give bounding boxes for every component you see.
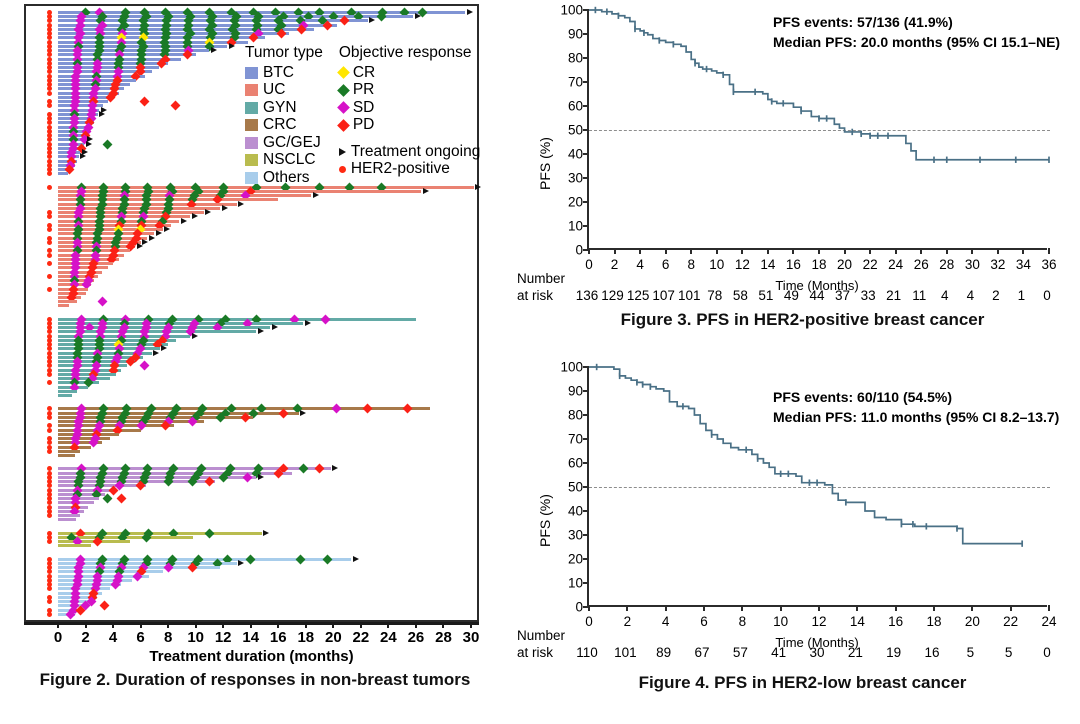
swimmer-bar-row <box>26 279 477 282</box>
x-axis-tick-label: 26 <box>914 257 929 272</box>
x-axis-tick-label: 0 <box>54 629 62 646</box>
swimmer-bar-row <box>26 394 477 397</box>
her2-positive-dot-icon <box>47 586 52 591</box>
y-axis-tick-label: 90 <box>568 384 583 399</box>
x-axis-tick <box>818 248 820 254</box>
swimmer-bar-row <box>26 296 477 299</box>
legend-diamond-icon <box>337 119 350 132</box>
swimmer-bar <box>58 318 416 321</box>
swimmer-bar <box>58 190 421 193</box>
x-axis-tick-label: 10 <box>773 614 788 629</box>
x-axis-tick <box>222 622 224 628</box>
swimmer-bar-row <box>26 441 477 444</box>
x-axis-tick-label: 2 <box>624 614 632 629</box>
swimmer-bar-row <box>26 198 477 201</box>
treatment-ongoing-arrow-icon <box>161 345 167 351</box>
pfs-events-3: PFS events: 57/136 (41.9%) <box>773 12 1060 32</box>
legend-item-crc: CRC <box>245 117 323 135</box>
y-axis-tick-label: 30 <box>568 528 583 543</box>
swimmer-bar-row <box>26 476 477 479</box>
swimmer-bar-row <box>26 271 477 274</box>
legend-label: Treatment ongoing <box>351 143 481 161</box>
swimmer-bar <box>58 377 110 380</box>
swimmer-bar-row <box>26 207 477 210</box>
legend-item-sd: SD <box>339 99 481 117</box>
x-axis-tick-label: 14 <box>760 257 775 272</box>
x-axis-tick <box>767 248 769 254</box>
figure-3-panel: 0102030405060708090100024681012141618202… <box>515 0 1080 340</box>
swimmer-bar-row <box>26 318 477 321</box>
treatment-ongoing-arrow-icon <box>153 350 159 356</box>
swimmer-bar-row <box>26 566 477 569</box>
x-axis-tick <box>780 605 782 611</box>
legend-diamond-icon <box>337 101 350 114</box>
y-axis-tick <box>583 225 589 227</box>
y-axis-tick-label: 60 <box>568 456 583 471</box>
y-axis-tick-label: 40 <box>568 147 583 162</box>
y-axis-tick-label: 50 <box>568 480 583 495</box>
annotation-3: PFS events: 57/136 (41.9%) Median PFS: 2… <box>773 12 1060 53</box>
swimmer-bar <box>58 100 108 103</box>
legend-swatch-icon <box>245 172 258 184</box>
y-axis-tick <box>583 201 589 203</box>
x-axis-tick <box>387 622 389 628</box>
y-axis-tick <box>583 534 589 536</box>
swimmer-bar <box>58 266 108 269</box>
x-axis-tick <box>703 605 705 611</box>
x-axis-tick-label: 18 <box>926 614 941 629</box>
x-axis-tick-label: 2 <box>611 257 619 272</box>
treatment-ongoing-arrow-icon <box>238 560 244 566</box>
number-at-risk-value: 4 <box>967 288 975 303</box>
number-at-risk-row-4: 1101018967574130211916550 <box>587 645 1047 665</box>
swimmer-bar-row <box>26 215 477 218</box>
x-axis-tick <box>626 605 628 611</box>
y-axis-tick-label: 50 <box>568 123 583 138</box>
legend-item-cr: CR <box>339 64 481 82</box>
number-at-risk-label-3: Number at risk <box>517 271 565 305</box>
legend-item-pd: PD <box>339 117 481 135</box>
treatment-ongoing-arrow-icon <box>415 13 421 19</box>
treatment-ongoing-arrow-icon <box>164 226 170 232</box>
x-axis-tick <box>167 622 169 628</box>
treatment-ongoing-arrow-icon <box>467 9 473 15</box>
her2-positive-dot-icon <box>47 261 52 266</box>
treatment-ongoing-arrow-icon <box>192 333 198 339</box>
x-axis-tick-label: 22 <box>1003 614 1018 629</box>
swimmer-bar <box>58 322 303 325</box>
legend-label: BTC <box>263 64 294 82</box>
swimmer-bar-row <box>26 283 477 286</box>
x-axis-tick <box>741 605 743 611</box>
legend-tumor-items: BTCUCGYNCRCGC/GEJNSCLCOthers <box>245 64 323 187</box>
legend-item-gyn: GYN <box>245 99 323 117</box>
x-axis-tick <box>112 622 114 628</box>
y-axis-tick-label: 100 <box>560 360 583 375</box>
y-axis-tick-label: 80 <box>568 408 583 423</box>
swimmer-bar-row <box>26 386 477 389</box>
x-axis-tick <box>818 605 820 611</box>
x-axis-tick <box>588 605 590 611</box>
y-axis-tick <box>583 462 589 464</box>
x-axis-tick <box>716 248 718 254</box>
x-axis-tick <box>305 622 307 628</box>
legend-diamond-icon <box>337 66 350 79</box>
legend-item-gc-gej: GC/GEJ <box>245 134 323 152</box>
treatment-ongoing-arrow-icon <box>423 188 429 194</box>
swimmer-bar <box>58 532 262 535</box>
swimmer-bar-row <box>26 446 477 449</box>
legend-item-nsclc: NSCLC <box>245 152 323 170</box>
x-axis-tick-label: 12 <box>215 629 232 646</box>
x-axis-tick <box>792 248 794 254</box>
legend-swatch-icon <box>245 67 258 79</box>
swimmer-bar <box>58 437 110 440</box>
swimmer-bar-row <box>26 275 477 278</box>
legend-label: SD <box>353 99 375 117</box>
y-axis-tick-label: 90 <box>568 27 583 42</box>
swimmer-bar-row <box>26 339 477 342</box>
swimmer-bar-row <box>26 335 477 338</box>
legend-item-her2-positive: HER2-positive <box>339 161 481 179</box>
number-at-risk-value: 129 <box>601 288 624 303</box>
x-axis-tick-label: 8 <box>739 614 747 629</box>
swimmer-bar-row <box>26 304 477 307</box>
treatment-ongoing-arrow-icon <box>353 556 359 562</box>
number-at-risk-value: 1 <box>1018 288 1026 303</box>
number-at-risk-value: 11 <box>912 288 926 303</box>
her2-positive-dot-icon <box>47 287 52 292</box>
swimmer-bar-row <box>26 480 477 483</box>
treatment-ongoing-arrow-icon <box>258 328 264 334</box>
figure-4-caption: Figure 4. PFS in HER2-low breast cancer <box>525 673 1080 694</box>
swimmer-bar <box>58 518 76 521</box>
number-at-risk-value: 16 <box>924 645 939 660</box>
swimmer-bar-row <box>26 558 477 561</box>
swimmer-bar-row <box>26 28 477 31</box>
x-axis-tick <box>250 622 252 628</box>
legend-label: Others <box>263 169 310 187</box>
number-at-risk-value: 67 <box>694 645 709 660</box>
her2-positive-dot-icon <box>47 380 52 385</box>
her2-positive-dot-icon <box>47 103 52 108</box>
her2-positive-dot-icon <box>47 274 52 279</box>
y-axis-tick-label: 40 <box>568 504 583 519</box>
y-axis-tick-label: 80 <box>568 51 583 66</box>
x-axis-tick-label: 6 <box>136 629 144 646</box>
swimmer-bar-row <box>26 484 477 487</box>
swimmer-bar-row <box>26 377 477 380</box>
x-axis-tick-label: 14 <box>242 629 259 646</box>
y-axis-tick <box>583 366 589 368</box>
x-axis-tick <box>415 622 417 628</box>
swimmer-bar <box>58 41 248 44</box>
x-axis-tick <box>277 622 279 628</box>
treatment-ongoing-arrow-icon <box>369 17 375 23</box>
number-at-risk-value: 37 <box>835 288 850 303</box>
swimmer-bar <box>58 304 69 307</box>
her2-positive-dot-icon <box>47 612 52 617</box>
x-axis-tick-label: 28 <box>435 629 452 646</box>
treatment-ongoing-arrow-icon <box>156 230 162 236</box>
swimmer-bar <box>58 172 68 175</box>
swimmer-bar-row <box>26 326 477 329</box>
figure-2-caption: Figure 2. Duration of responses in non-b… <box>10 670 500 691</box>
y-axis-tick <box>583 510 589 512</box>
her2-positive-dot-icon <box>47 539 52 544</box>
legend-label: PR <box>353 81 375 99</box>
y-axis-tick <box>583 9 589 11</box>
y-axis-tick <box>583 33 589 35</box>
x-axis-tick-label: 4 <box>636 257 644 272</box>
her2-positive-dot-icon <box>47 227 52 232</box>
number-at-risk-value: 101 <box>614 645 637 660</box>
x-axis-tick-label: 20 <box>965 614 980 629</box>
median-pfs-4: Median PFS: 11.0 months (95% CI 8.2–13.7… <box>773 407 1059 427</box>
swimmer-bar-row <box>26 570 477 573</box>
number-at-risk-value: 30 <box>809 645 824 660</box>
x-axis-tick-label: 30 <box>965 257 980 272</box>
number-at-risk-value: 58 <box>733 288 748 303</box>
swimmer-bar-row <box>26 224 477 227</box>
y-axis-label-4: PFS (%) <box>537 494 553 547</box>
x-axis-tick-label: 8 <box>687 257 695 272</box>
her2-positive-dot-icon <box>47 185 52 190</box>
swimmer-bar <box>58 194 311 197</box>
y-axis-tick-label: 20 <box>568 195 583 210</box>
her2-positive-dot-icon <box>339 166 346 173</box>
swimmer-bar-row <box>26 493 477 496</box>
x-axis-tick-label: 16 <box>270 629 287 646</box>
x-axis-tick-label: 14 <box>850 614 865 629</box>
x-axis-tick-label: 6 <box>700 614 708 629</box>
swimmer-bar-row <box>26 322 477 325</box>
x-axis-tick-label: 24 <box>380 629 397 646</box>
x-axis-tick <box>997 248 999 254</box>
treatment-ongoing-arrow-icon <box>149 235 155 241</box>
swimmer-bar-row <box>26 232 477 235</box>
treatment-ongoing-arrow-icon <box>263 530 269 536</box>
x-axis-tick-label: 32 <box>990 257 1005 272</box>
swimmer-bar-row <box>26 467 477 470</box>
x-axis-tick-label: 6 <box>662 257 670 272</box>
legend-item-uc: UC <box>245 82 323 100</box>
x-axis-tick-label: 34 <box>1016 257 1031 272</box>
x-axis-tick-label: 10 <box>709 257 724 272</box>
y-axis-tick-label: 0 <box>575 243 583 258</box>
y-axis-tick <box>583 438 589 440</box>
x-axis-tick <box>895 605 897 611</box>
swimmer-bar-row <box>26 540 477 543</box>
legend-label: HER2-positive <box>351 160 450 178</box>
swimmer-bar <box>58 390 77 393</box>
x-axis-tick-label: 18 <box>811 257 826 272</box>
legend-item-others: Others <box>245 169 323 187</box>
swimmer-bar-row <box>26 11 477 14</box>
legend-label: GC/GEJ <box>263 134 321 152</box>
risk-label-line2-4: at risk <box>517 645 565 662</box>
treatment-ongoing-arrow-icon <box>211 47 217 53</box>
x-axis-tick-label: 16 <box>888 614 903 629</box>
x-axis-tick-label: 24 <box>1041 614 1056 629</box>
swimmer-bar <box>58 544 91 547</box>
x-axis-tick-label: 18 <box>297 629 314 646</box>
swimmer-bar <box>58 373 116 376</box>
x-axis-tick <box>869 248 871 254</box>
swimmer-bar-row <box>26 300 477 303</box>
x-axis-tick <box>57 622 59 628</box>
y-axis-tick-label: 70 <box>568 432 583 447</box>
x-axis-tick <box>690 248 692 254</box>
legend-header-objective-response: Objective response <box>339 44 481 62</box>
treatment-ongoing-arrow-icon <box>229 43 235 49</box>
swimmer-bar-row <box>26 613 477 616</box>
swimmer-bar-row <box>26 562 477 565</box>
risk-label-line1-4: Number <box>517 628 565 645</box>
y-axis-tick <box>583 390 589 392</box>
swimmer-bar-row <box>26 497 477 500</box>
number-at-risk-value: 2 <box>992 288 1000 303</box>
legend-header-tumor-type: Tumor type <box>245 44 323 62</box>
treatment-ongoing-arrow-icon <box>99 111 105 117</box>
annotation-4: PFS events: 60/110 (54.5%) Median PFS: 1… <box>773 387 1059 428</box>
swimmer-bar-row <box>26 194 477 197</box>
number-at-risk-value: 41 <box>771 645 786 660</box>
x-axis-tick-label: 26 <box>408 629 425 646</box>
x-axis-tick <box>442 622 444 628</box>
treatment-ongoing-arrow-icon <box>305 320 311 326</box>
y-axis-tick-label: 20 <box>568 552 583 567</box>
number-at-risk-value: 51 <box>758 288 773 303</box>
number-at-risk-value: 0 <box>1043 288 1051 303</box>
median-pfs-3: Median PFS: 20.0 months (95% CI 15.1–NE) <box>773 32 1060 52</box>
swimmer-bar-row <box>26 412 477 415</box>
swimmer-bar-row <box>26 600 477 603</box>
y-axis-tick-label: 70 <box>568 75 583 90</box>
x-axis-tick-label: 0 <box>585 614 593 629</box>
swimmer-bar-row <box>26 343 477 346</box>
swimmer-bar-row <box>26 416 477 419</box>
y-axis-tick <box>583 153 589 155</box>
swimmer-bar <box>58 489 116 492</box>
x-axis-tick-label: 12 <box>735 257 750 272</box>
number-at-risk-value: 49 <box>784 288 799 303</box>
swimmer-bar-row <box>26 514 477 517</box>
x-axis-tick <box>85 622 87 628</box>
legend-item-treatment-ongoing: Treatment ongoing <box>339 143 481 161</box>
number-at-risk-value: 89 <box>656 645 671 660</box>
y-axis-tick <box>583 57 589 59</box>
swimmer-bar <box>58 454 75 457</box>
swimmer-bar-row <box>26 211 477 214</box>
x-axis-tick <box>195 622 197 628</box>
legend-label: CRC <box>263 116 297 134</box>
swimmer-bar-row <box>26 518 477 521</box>
legend-response-items: CRPRSDPDTreatment ongoingHER2-positive <box>339 64 481 178</box>
y-axis-label-3: PFS (%) <box>537 137 553 190</box>
treatment-ongoing-arrow-icon <box>300 410 306 416</box>
y-axis-tick <box>583 129 589 131</box>
x-axis-tick <box>332 622 334 628</box>
swimmer-bar-row <box>26 544 477 547</box>
y-axis-tick <box>583 81 589 83</box>
swimmer-bar <box>58 450 80 453</box>
swimmer-bar-row <box>26 510 477 513</box>
y-axis-tick <box>583 414 589 416</box>
swimmer-bar-row <box>26 536 477 539</box>
legend-column-response: Objective response CRPRSDPDTreatment ong… <box>339 44 481 187</box>
x-axis-tick <box>1048 605 1050 611</box>
x-axis-tick-label: 20 <box>837 257 852 272</box>
x-axis-tick <box>844 248 846 254</box>
y-axis-tick <box>583 558 589 560</box>
number-at-risk-value: 33 <box>861 288 876 303</box>
x-axis-tick <box>614 248 616 254</box>
swimmer-bar-row <box>26 501 477 504</box>
x-axis-tick-label: 12 <box>811 614 826 629</box>
x-axis-tick-label: 22 <box>863 257 878 272</box>
x-axis-tick <box>1010 605 1012 611</box>
y-axis-tick <box>583 105 589 107</box>
treatment-ongoing-arrow-icon <box>272 324 278 330</box>
her2-positive-dot-icon <box>47 214 52 219</box>
number-at-risk-value: 19 <box>886 645 901 660</box>
x-axis-tick <box>741 248 743 254</box>
treatment-ongoing-arrow-icon <box>181 218 187 224</box>
swimmer-bar-row <box>26 36 477 39</box>
legend-swatch-icon <box>245 137 258 149</box>
x-axis-tick <box>971 605 973 611</box>
figure-3-caption: Figure 3. PFS in HER2-positive breast ca… <box>525 310 1080 331</box>
swimmer-bar-row <box>26 292 477 295</box>
x-axis-tick-label: 0 <box>585 257 593 272</box>
swimmer-bar-row <box>26 420 477 423</box>
x-axis-tick <box>140 622 142 628</box>
swimmer-bar <box>58 330 256 333</box>
legend-label: GYN <box>263 99 297 117</box>
swimmer-bar-row <box>26 220 477 223</box>
treatment-ongoing-arrow-icon <box>205 209 211 215</box>
y-axis-tick <box>583 177 589 179</box>
legend-swatch-icon <box>245 119 258 131</box>
legend-label: UC <box>263 81 285 99</box>
y-axis-tick-label: 0 <box>575 600 583 615</box>
x-axis-tick <box>639 248 641 254</box>
x-axis-tick-label: 28 <box>939 257 954 272</box>
legend-column-tumor-type: Tumor type BTCUCGYNCRCGC/GEJNSCLCOthers <box>245 44 323 187</box>
number-at-risk-row-3: 13612912510710178585149443733211144210 <box>587 288 1047 308</box>
y-axis-tick <box>583 486 589 488</box>
number-at-risk-value: 101 <box>678 288 701 303</box>
treatment-ongoing-arrow-icon <box>142 239 148 245</box>
x-axis-tick-label: 30 <box>463 629 480 646</box>
legend-item-btc: BTC <box>245 64 323 82</box>
x-axis-tick-label: 10 <box>187 629 204 646</box>
x-axis-tick <box>665 248 667 254</box>
legend-label: PD <box>353 116 375 134</box>
swimmer-bar <box>58 407 430 410</box>
swimmer-bar-row <box>26 506 477 509</box>
swimmer-bar-row <box>26 347 477 350</box>
x-axis-tick-label: 2 <box>81 629 89 646</box>
figure-2-panel: Tumor type BTCUCGYNCRCGC/GEJNSCLCOthers … <box>0 0 500 724</box>
swimmer-bar-row <box>26 424 477 427</box>
number-at-risk-value: 136 <box>576 288 599 303</box>
y-axis-tick-label: 30 <box>568 171 583 186</box>
x-axis-tick <box>920 248 922 254</box>
number-at-risk-value: 57 <box>733 645 748 660</box>
treatment-ongoing-arrow-icon <box>192 213 198 219</box>
